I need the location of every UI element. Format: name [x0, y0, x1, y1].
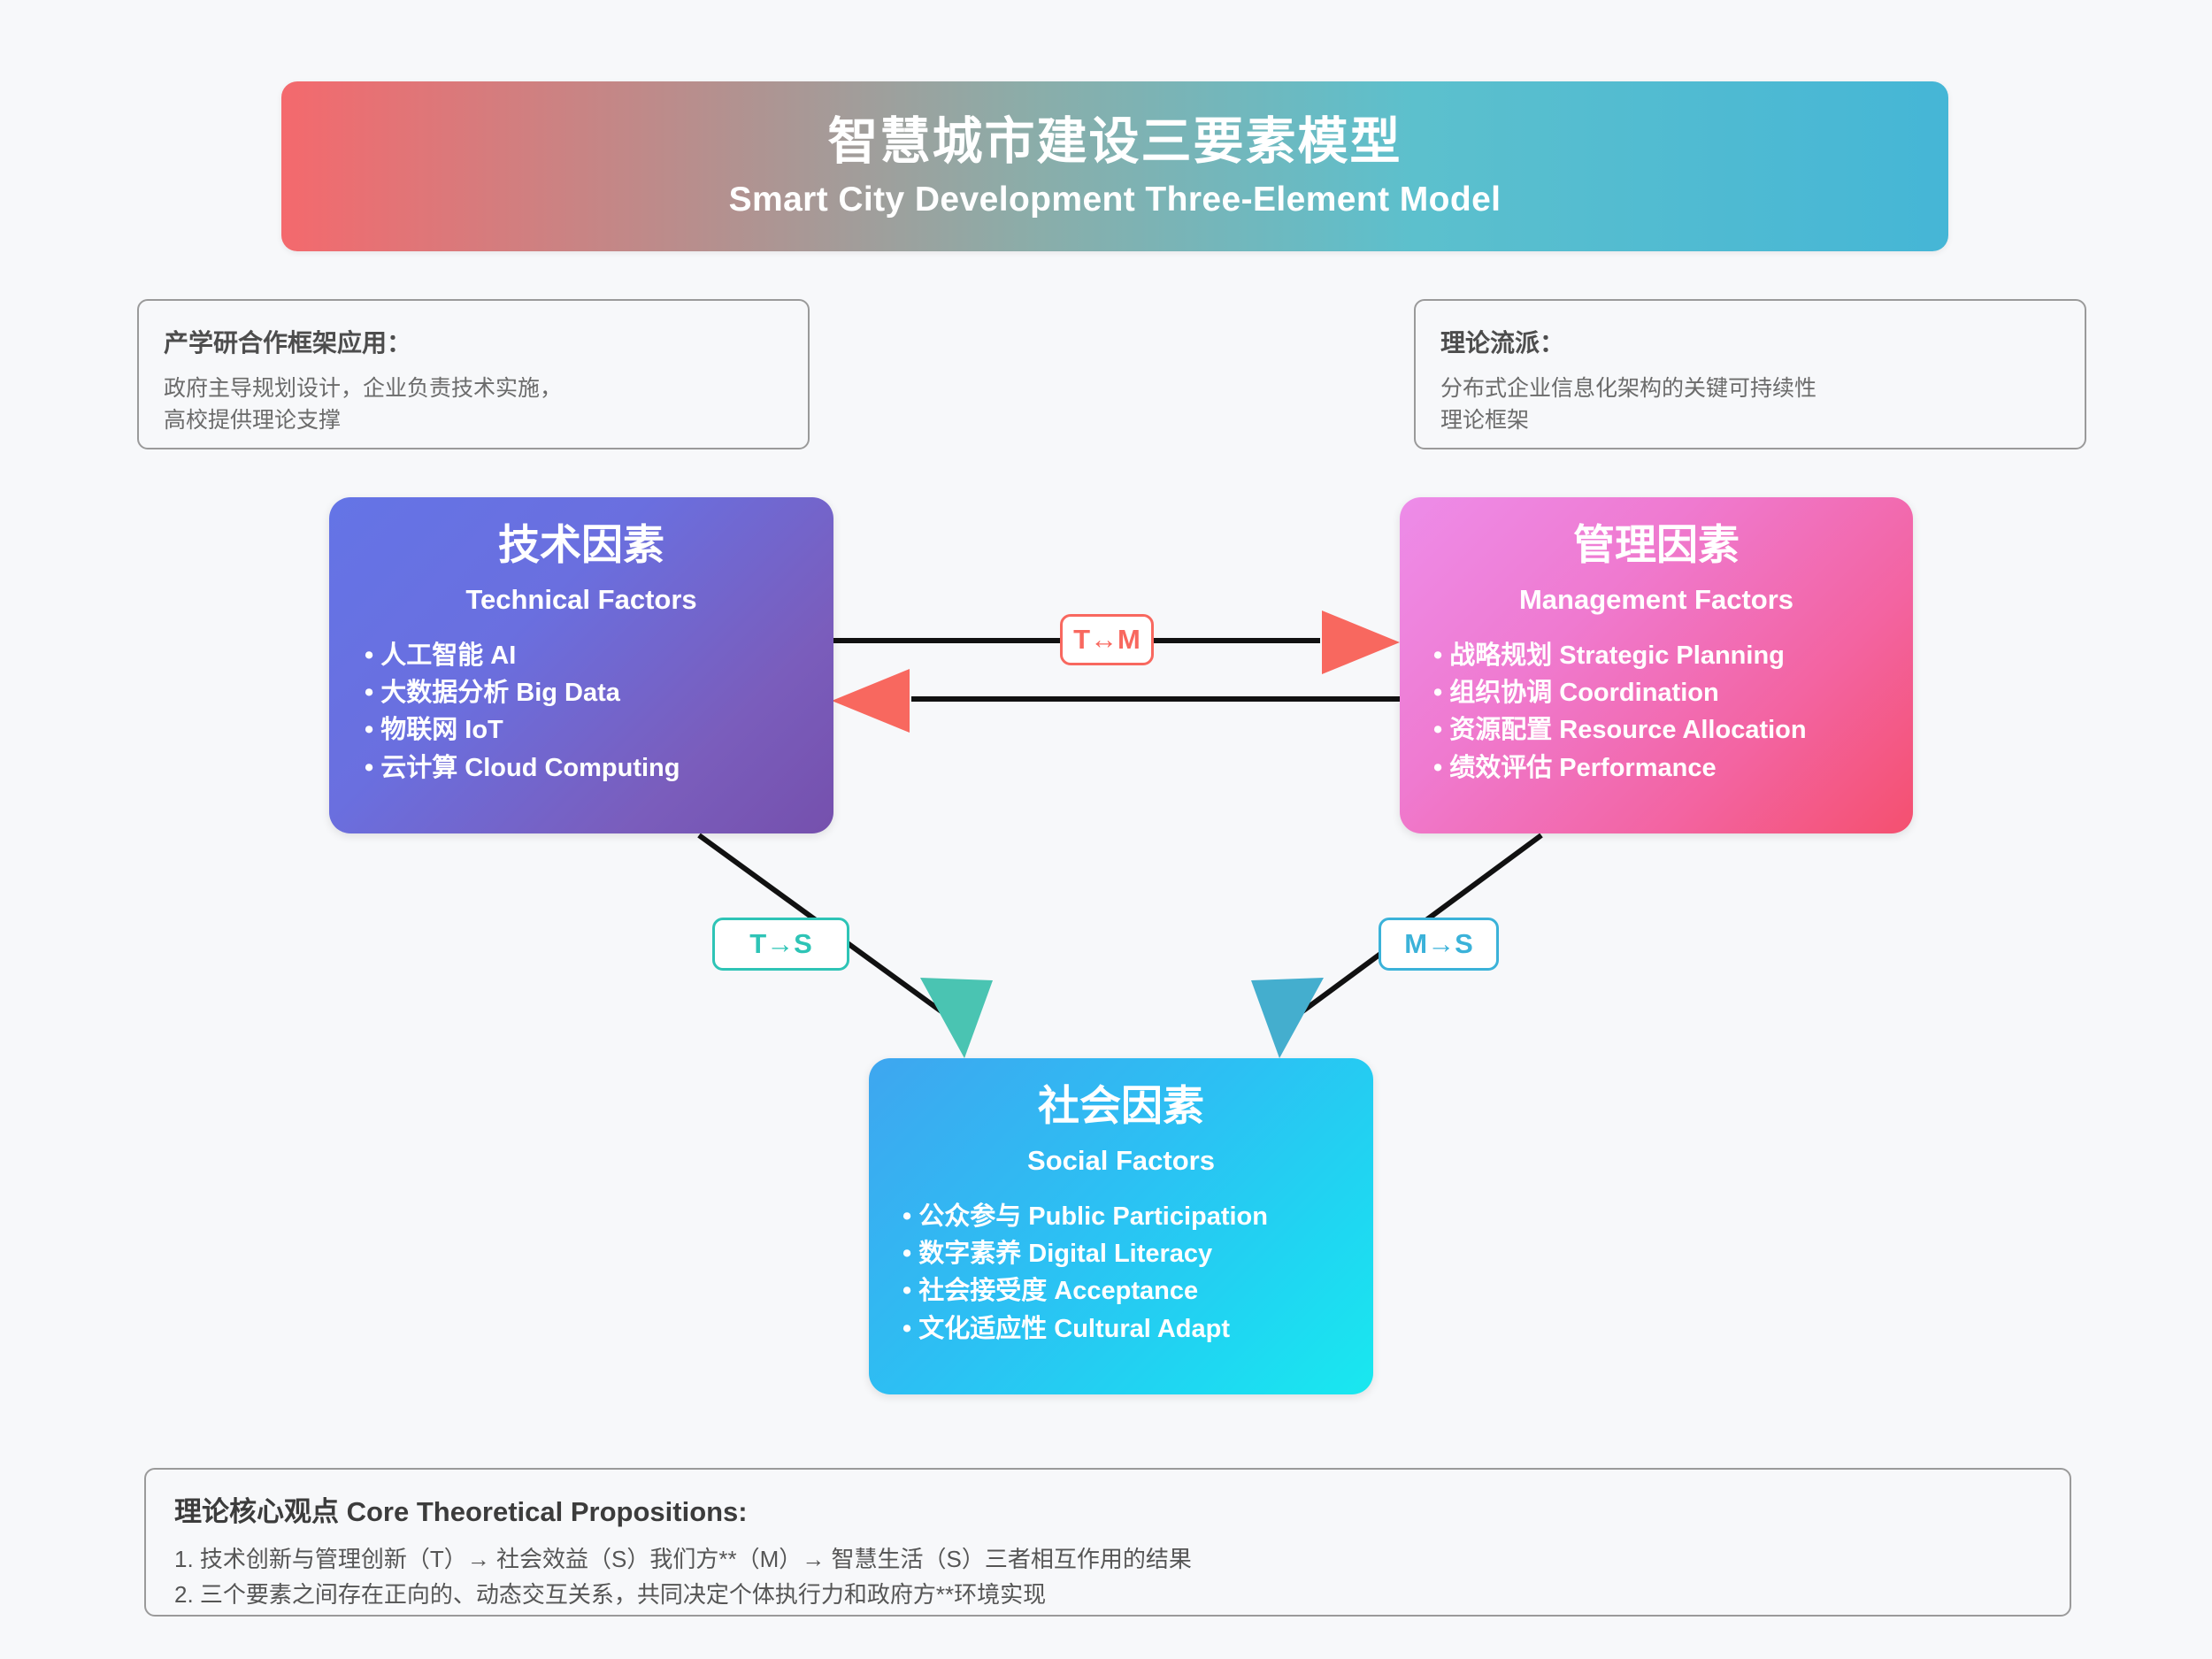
note-left-title: 产学研合作框架应用：: [164, 324, 783, 359]
card-social-title-cn: 社会因素: [890, 1081, 1352, 1131]
card-management-title-cn: 管理因素: [1421, 520, 1892, 570]
header-banner: 智慧城市建设三要素模型 Smart City Development Three…: [281, 81, 1948, 251]
note-box-theoretical-school: 理论流派： 分布式企业信息化架构的关键可持续性 理论框架: [1414, 299, 2086, 449]
core-propositions-box: 理论核心观点 Core Theoretical Propositions: 1.…: [144, 1468, 2071, 1617]
list-item: 数字素养 Digital Literacy: [902, 1235, 1352, 1272]
list-item: 公众参与 Public Participation: [902, 1198, 1352, 1235]
list-item: 资源配置 Resource Allocation: [1433, 711, 1892, 749]
page-subtitle: Smart City Development Three-Element Mod…: [729, 180, 1502, 219]
note-left-body: 政府主导规划设计，企业负责技术实施， 高校提供理论支撑: [164, 373, 783, 436]
list-item: 文化适应性 Cultural Adapt: [902, 1310, 1352, 1348]
diagram-canvas: 智慧城市建设三要素模型 Smart City Development Three…: [0, 0, 2212, 1659]
list-item: 战略规划 Strategic Planning: [1433, 637, 1892, 674]
list-item: 物联网 IoT: [365, 711, 812, 749]
card-management-items: 战略规划 Strategic Planning 组织协调 Coordinatio…: [1421, 637, 1892, 786]
list-item: 社会接受度 Acceptance: [902, 1272, 1352, 1310]
card-technical-title-cn: 技术因素: [350, 520, 812, 570]
list-item: 组织协调 Coordination: [1433, 674, 1892, 711]
core-proposition-line: 1. 技术创新与管理创新（T）→ 社会效益（S）我们方**（M）→ 智慧生活（S…: [174, 1541, 2041, 1577]
card-technical-factors[interactable]: 技术因素 Technical Factors 人工智能 AI 大数据分析 Big…: [329, 497, 833, 833]
edge-label-tech-management: T↔M: [1060, 614, 1154, 665]
card-management-factors[interactable]: 管理因素 Management Factors 战略规划 Strategic P…: [1400, 497, 1913, 833]
card-social-factors[interactable]: 社会因素 Social Factors 公众参与 Public Particip…: [869, 1058, 1373, 1394]
note-box-collaboration-framework: 产学研合作框架应用： 政府主导规划设计，企业负责技术实施， 高校提供理论支撑: [137, 299, 810, 449]
list-item: 人工智能 AI: [365, 637, 812, 674]
card-technical-items: 人工智能 AI 大数据分析 Big Data 物联网 IoT 云计算 Cloud…: [350, 637, 812, 786]
note-right-body: 分布式企业信息化架构的关键可持续性 理论框架: [1440, 373, 2060, 436]
card-management-title-en: Management Factors: [1421, 584, 1892, 616]
list-item: 绩效评估 Performance: [1433, 749, 1892, 787]
card-social-title-en: Social Factors: [890, 1145, 1352, 1177]
page-title: 智慧城市建设三要素模型: [828, 113, 1402, 172]
core-propositions-title: 理论核心观点 Core Theoretical Propositions:: [174, 1489, 2041, 1529]
edge-label-tech-social: T→S: [712, 918, 849, 971]
list-item: 云计算 Cloud Computing: [365, 749, 812, 787]
edge-label-management-social: M→S: [1379, 918, 1499, 971]
core-proposition-line: 2. 三个要素之间存在正向的、动态交互关系，共同决定个体执行力和政府方**环境实…: [174, 1577, 2041, 1612]
card-technical-title-en: Technical Factors: [350, 584, 812, 616]
card-social-items: 公众参与 Public Participation 数字素养 Digital L…: [890, 1198, 1352, 1347]
note-right-title: 理论流派：: [1440, 324, 2060, 359]
list-item: 大数据分析 Big Data: [365, 674, 812, 711]
